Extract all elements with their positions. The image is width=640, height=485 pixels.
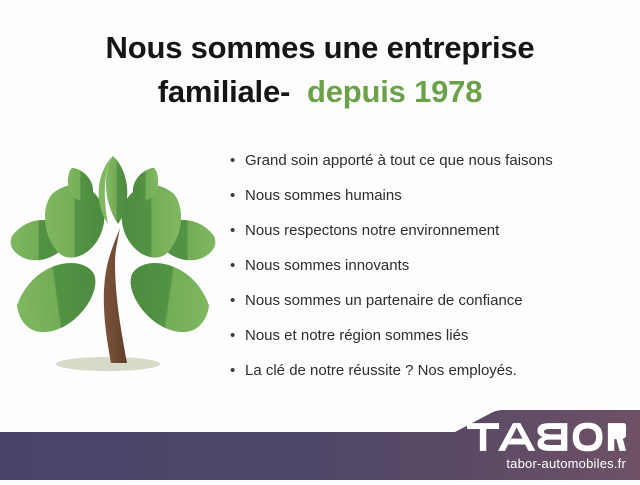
list-item-label: Nous sommes innovants xyxy=(245,255,409,277)
list-item-label: Nous respectons notre environnement xyxy=(245,220,499,242)
list-item-label: Nous sommes un partenaire de confiance xyxy=(245,290,523,312)
footer-bar: tabor-automobiles.fr xyxy=(0,400,640,480)
bullet-point-icon: • xyxy=(230,150,245,172)
bullet-point-icon: • xyxy=(230,325,245,347)
bullet-point-icon: • xyxy=(230,255,245,277)
bullet-point-icon: • xyxy=(230,360,245,382)
list-item: • Nous respectons notre environnement xyxy=(230,220,630,255)
title-line-2: familiale- depuis 1978 xyxy=(0,72,640,112)
tree-illustration-svg xyxy=(8,150,218,390)
tree-trunk xyxy=(104,228,127,363)
list-item: • La clé de notre réussite ? Nos employé… xyxy=(230,360,630,395)
list-item-label: Nous sommes humains xyxy=(245,185,402,207)
footer-bar-shape xyxy=(0,400,640,480)
list-item: • Grand soin apporté à tout ce que nous … xyxy=(230,150,630,185)
title-line-1: Nous sommes une entreprise xyxy=(0,28,640,68)
bullet-point-icon: • xyxy=(230,185,245,207)
tree-leaf-lower-left xyxy=(12,260,102,336)
list-item-label: Nous et notre région sommes liés xyxy=(245,325,468,347)
slide-canvas: Nous sommes une entreprise familiale- de… xyxy=(0,0,640,480)
bullet-point-icon: • xyxy=(230,290,245,312)
list-item-label: La clé de notre réussite ? Nos employés. xyxy=(245,360,517,382)
title-line-2-main: familiale xyxy=(158,74,280,109)
list-item: • Nous sommes un partenaire de confiance xyxy=(230,290,630,325)
title-dash: - xyxy=(280,74,290,109)
tree-leaf-lower-right xyxy=(124,260,214,336)
tree-shadow xyxy=(56,357,160,371)
bullet-point-icon: • xyxy=(230,220,245,242)
list-item-label: Grand soin apporté à tout ce que nous fa… xyxy=(245,150,553,172)
tree-leaf-top-center xyxy=(99,156,128,224)
tree-illustration xyxy=(8,150,218,390)
page-title: Nous sommes une entreprise familiale- de… xyxy=(0,28,640,112)
list-item: • Nous sommes humains xyxy=(230,185,630,220)
list-item: • Nous sommes innovants xyxy=(230,255,630,290)
title-accent-year: depuis 1978 xyxy=(307,74,482,109)
bullet-list: • Grand soin apporté à tout ce que nous … xyxy=(230,150,630,395)
list-item: • Nous et notre région sommes liés xyxy=(230,325,630,360)
